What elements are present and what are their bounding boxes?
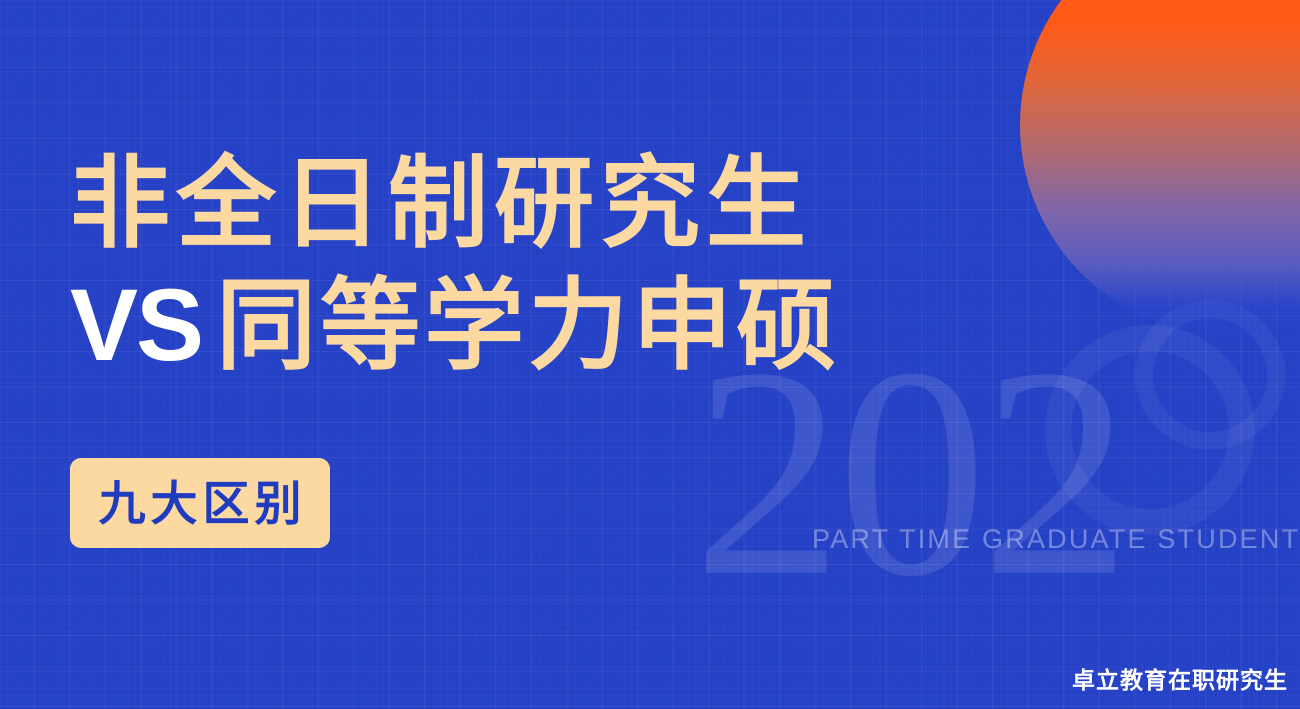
headline-line-1: 非全日制研究生 — [70, 148, 1070, 260]
english-subtitle: PART TIME GRADUATE STUDENTS — [812, 524, 1300, 555]
headline-line-2: VS同等学力申硕 — [70, 268, 1070, 382]
vs-label: VS — [70, 268, 216, 382]
headline-block: 非全日制研究生 VS同等学力申硕 — [70, 148, 1070, 382]
nine-differences-badge[interactable]: 九大区别 — [70, 458, 330, 548]
badge-label: 九大区别 — [94, 480, 307, 527]
headline-line-2-cn: 同等学力申硕 — [216, 270, 840, 382]
brand-watermark: 卓立教育在职研究生 — [1072, 661, 1288, 695]
decorative-arc-small — [1135, 300, 1285, 450]
poster-canvas: 202 非全日制研究生 VS同等学力申硕 九大区别 PART TIME GRAD… — [0, 0, 1300, 709]
decorative-arc-large — [1045, 325, 1255, 535]
